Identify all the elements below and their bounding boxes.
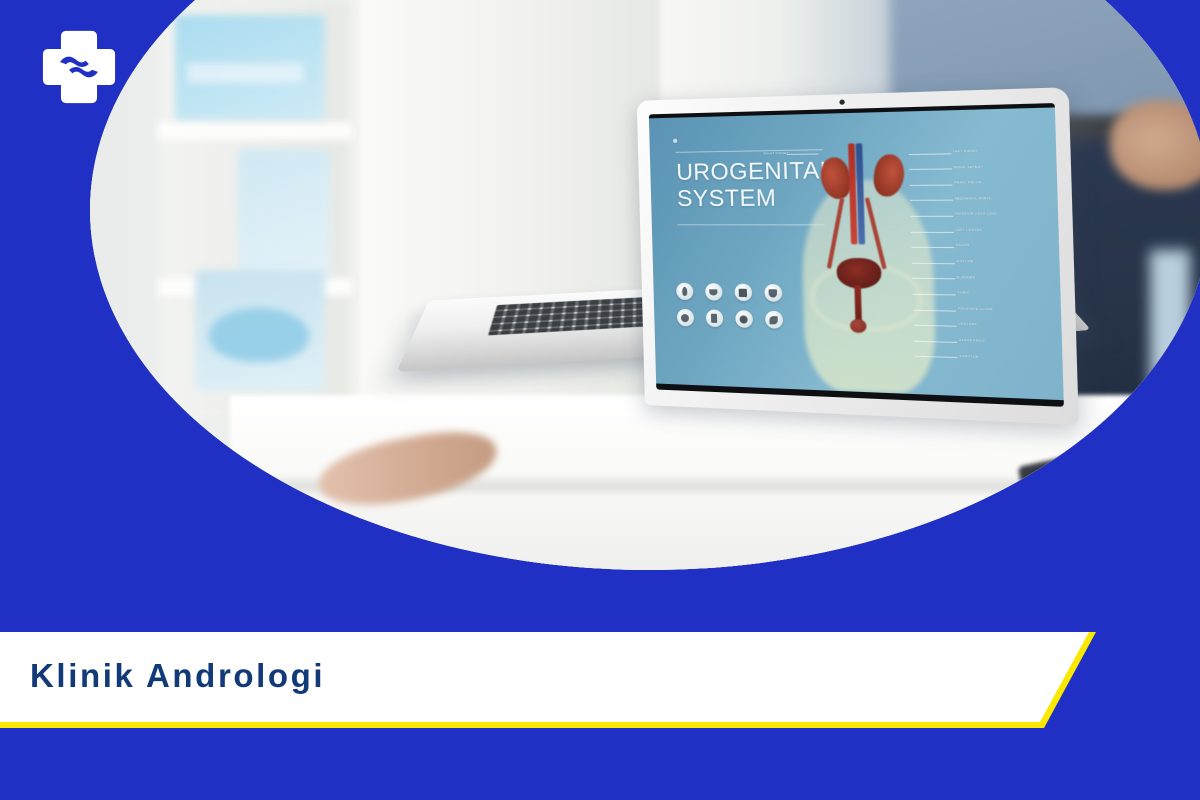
hero-photo: UROGENITAL SYSTEM [90,0,1200,570]
shelf-box [238,150,330,280]
anatomy-label: LEFT KIDNEY [953,149,978,154]
page-title: Klinik Andrologi [30,657,325,695]
anatomy-label-left: RIGHT KIDNEY [763,151,788,156]
slide-divider-bottom [678,224,825,225]
laptop: UROGENITAL SYSTEM [360,100,1050,470]
slide-icon-toolbar [676,283,783,329]
title-banner: Klinik Andrologi [0,632,1096,728]
webcam-icon [839,99,845,104]
anatomy-label: SCROTUM [959,353,979,358]
anatomy-label: PELVIS [956,243,970,247]
anatomy-label: GLANS PENIS [959,338,985,343]
cells-icon [735,310,753,328]
clinic-logo [38,26,120,108]
anatomy-label: PROSTATE GLAND [958,306,993,311]
shelf-box [175,15,325,120]
anatomy-label: LEFT URETER [955,228,982,232]
clinic-photo-scene: UROGENITAL SYSTEM [90,0,1200,570]
laptop-screen: UROGENITAL SYSTEM [649,103,1064,407]
poster-canvas: UROGENITAL SYSTEM [0,0,1200,800]
anatomy-label: RENAL ARTERY [954,164,983,169]
anatomy-label-column-right: LEFT KIDNEY RENAL ARTERY RENAL PELVIS AB… [649,107,1055,118]
label-leader-line [787,154,819,156]
shelf-ledge [158,122,353,140]
anatomy-label: PUBIS [957,290,969,295]
monitor-icon [734,284,752,302]
slide-title-line2: SYSTEM [677,185,835,212]
slide-title-line1: UROGENITAL [676,158,834,186]
slide-bullet-dot [674,139,678,143]
left-kidney-shape [872,152,907,198]
person-hand [1110,100,1200,190]
anatomy-label: INFERIOR VENA CAVA [955,212,997,216]
bed-icon [764,284,782,302]
slide-title: UROGENITAL SYSTEM [676,158,835,212]
slide-divider-top [676,150,823,154]
book-icon [705,310,723,328]
background-door-gap [1150,250,1190,420]
medical-cross-handshake-icon [43,31,115,103]
title-banner-surface: Klinik Andrologi [0,632,1089,722]
shield-icon [676,309,693,327]
bottle-icon [676,283,693,300]
anatomy-label: RENAL PELVIS [954,180,982,185]
presentation-slide: UROGENITAL SYSTEM [649,107,1064,400]
laptop-lid: UROGENITAL SYSTEM [637,87,1079,425]
anatomy-label: OUTLINE [956,259,973,263]
anatomy-label: BLADDER [957,275,975,280]
anatomy-label: URETHRA [958,322,977,327]
anatomy-label: ABDOMINAL AORTA [955,196,992,201]
hand-icon [765,311,783,329]
shelf-box [195,270,325,390]
cup-icon [705,283,723,301]
